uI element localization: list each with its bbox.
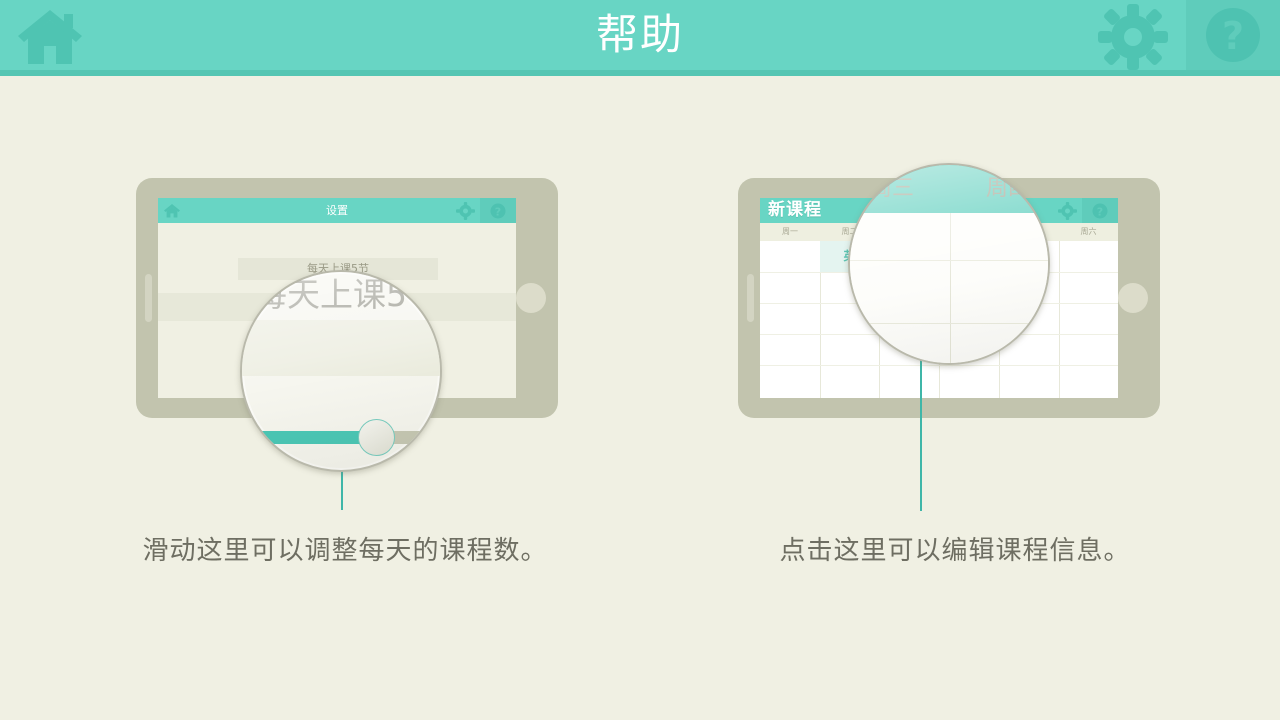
- help-icon: ?: [489, 202, 507, 220]
- grid-vline: [1059, 241, 1060, 398]
- gear-icon: [1058, 202, 1077, 220]
- magnified-weekday-a: 周三: [848, 165, 942, 213]
- help-icon: ?: [1091, 202, 1109, 220]
- grid-vline: [950, 213, 951, 365]
- slider-knob[interactable]: [358, 419, 395, 456]
- grid-hline: [760, 365, 1118, 366]
- gear-icon: [456, 202, 475, 220]
- tablet-home-button: [516, 283, 546, 313]
- top-header-bar: ? 帮助: [0, 0, 1280, 76]
- mini-header-settings: 设置 ?: [158, 198, 516, 223]
- mini-help-button[interactable]: ?: [480, 198, 516, 223]
- tablet-side-button: [747, 274, 754, 322]
- mini-help-button[interactable]: ?: [1082, 198, 1118, 223]
- tablet-home-button: [1118, 283, 1148, 313]
- magnifier-lens-settings: 每天上课5节: [240, 270, 442, 472]
- svg-text:?: ?: [495, 206, 501, 219]
- caption-settings: 滑动这里可以调整每天的课程数。: [0, 530, 690, 567]
- timetable-panel: 新课程 ?: [738, 178, 1160, 418]
- grid-hline: [850, 260, 1050, 261]
- svg-text:?: ?: [1097, 206, 1103, 219]
- magnifier-content-settings: 每天上课5节: [242, 272, 440, 470]
- tablet-side-button: [145, 274, 152, 322]
- magnified-grid: [850, 213, 1050, 365]
- weekday-header-5: 周六: [1059, 223, 1118, 241]
- caption-timetable: 点击这里可以编辑课程信息。: [600, 530, 1280, 567]
- page-title: 帮助: [0, 0, 1280, 70]
- header-underline: [0, 70, 1280, 76]
- mini-title-timetable: 新课程: [768, 198, 822, 223]
- magnifier-content-timetable: 周三 周四: [850, 165, 1048, 363]
- magnified-header-band: 周三 周四: [850, 165, 1050, 213]
- magnified-band: [240, 320, 442, 376]
- magnifier-lens-timetable: 周三 周四: [848, 163, 1050, 365]
- magnified-setting-label: 每天上课5节: [240, 270, 442, 316]
- grid-hline: [850, 323, 1050, 324]
- magnified-weekday-b: 周四: [958, 165, 1050, 213]
- weekday-header-0: 周一: [760, 223, 820, 241]
- settings-panel: 设置 ?: [136, 178, 558, 418]
